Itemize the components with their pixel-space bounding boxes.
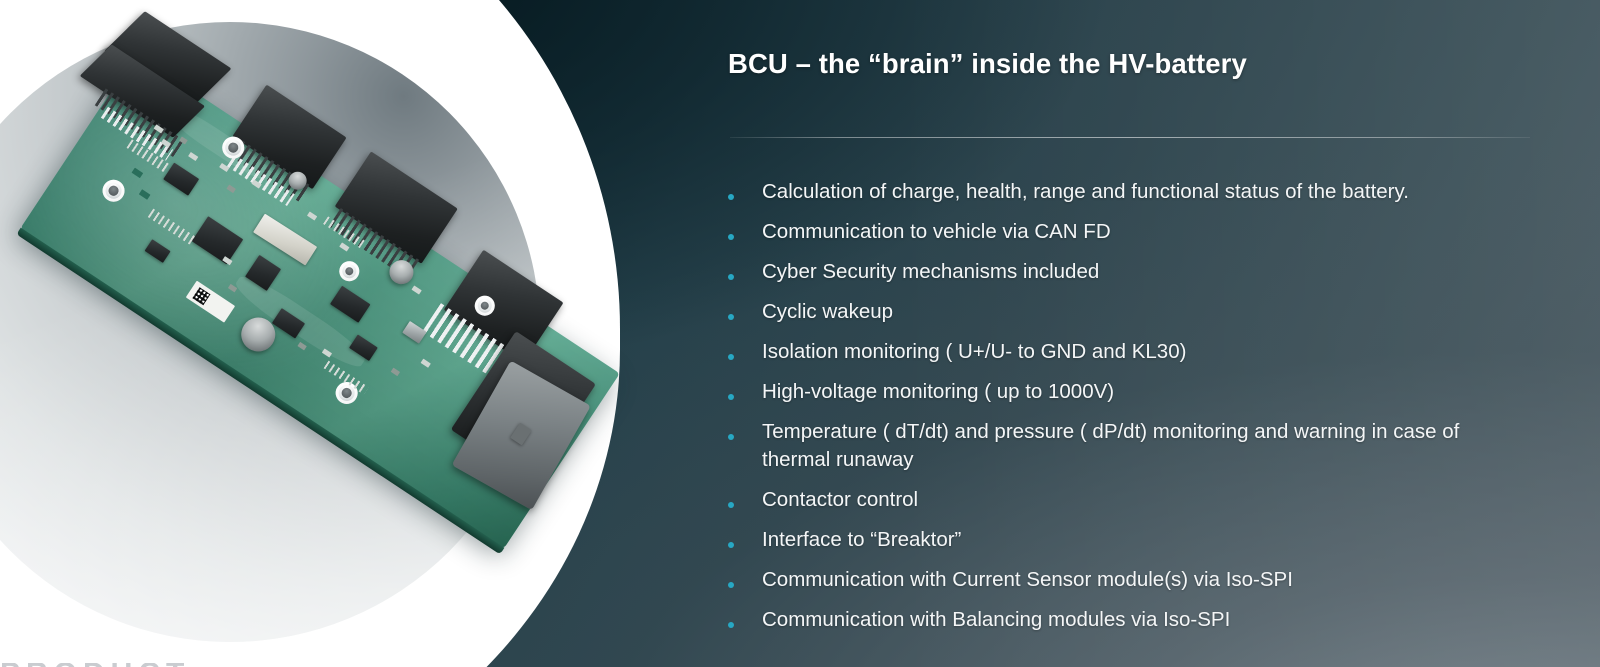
bullet-marker-icon (728, 486, 762, 513)
bullet-marker-icon (728, 178, 762, 205)
list-item: High-voltage monitoring ( up to 1000V) (728, 378, 1528, 406)
list-item-label: Temperature ( dT/dt) and pressure ( dP/d… (762, 418, 1522, 473)
list-item-label: Isolation monitoring ( U+/U- to GND and … (762, 338, 1522, 366)
bullet-marker-icon (728, 418, 762, 445)
list-item: Isolation monitoring ( U+/U- to GND and … (728, 338, 1528, 366)
bullet-marker-icon (728, 606, 762, 633)
list-item: Contactor control (728, 486, 1528, 514)
list-item: Temperature ( dT/dt) and pressure ( dP/d… (728, 418, 1528, 473)
presentation-slide: BCU – the “brain” inside the HV-battery … (0, 0, 1600, 667)
list-item-label: Cyber Security mechanisms included (762, 258, 1522, 286)
list-item: Communication with Current Sensor module… (728, 566, 1528, 594)
list-item-label: Contactor control (762, 486, 1522, 514)
list-item-label: High-voltage monitoring ( up to 1000V) (762, 378, 1522, 406)
list-item: Communication to vehicle via CAN FD (728, 218, 1528, 246)
list-item: Interface to “Breaktor” (728, 526, 1528, 554)
title-divider (730, 137, 1530, 138)
bullet-marker-icon (728, 526, 762, 553)
bullet-marker-icon (728, 378, 762, 405)
page-title: BCU – the “brain” inside the HV-battery (728, 48, 1247, 80)
list-item-label: Calculation of charge, health, range and… (762, 178, 1522, 206)
bullet-marker-icon (728, 218, 762, 245)
bullet-marker-icon (728, 298, 762, 325)
bullet-marker-icon (728, 258, 762, 285)
list-item: Communication with Balancing modules via… (728, 606, 1528, 634)
list-item: Cyber Security mechanisms included (728, 258, 1528, 286)
footer-text-cropped: PRODUCT (0, 663, 230, 667)
list-item-label: Communication with Balancing modules via… (762, 606, 1522, 634)
list-item-label: Interface to “Breaktor” (762, 526, 1522, 554)
slide-content: BCU – the “brain” inside the HV-battery … (728, 0, 1538, 667)
list-item-label: Cyclic wakeup (762, 298, 1522, 326)
bullet-marker-icon (728, 566, 762, 593)
list-item: Calculation of charge, health, range and… (728, 178, 1528, 206)
product-image-region (0, 0, 640, 667)
list-item-label: Communication with Current Sensor module… (762, 566, 1522, 594)
footer-label: PRODUCT (0, 663, 190, 667)
feature-bullet-list: Calculation of charge, health, range and… (728, 178, 1528, 646)
list-item-label: Communication to vehicle via CAN FD (762, 218, 1522, 246)
bullet-marker-icon (728, 338, 762, 365)
list-item: Cyclic wakeup (728, 298, 1528, 326)
